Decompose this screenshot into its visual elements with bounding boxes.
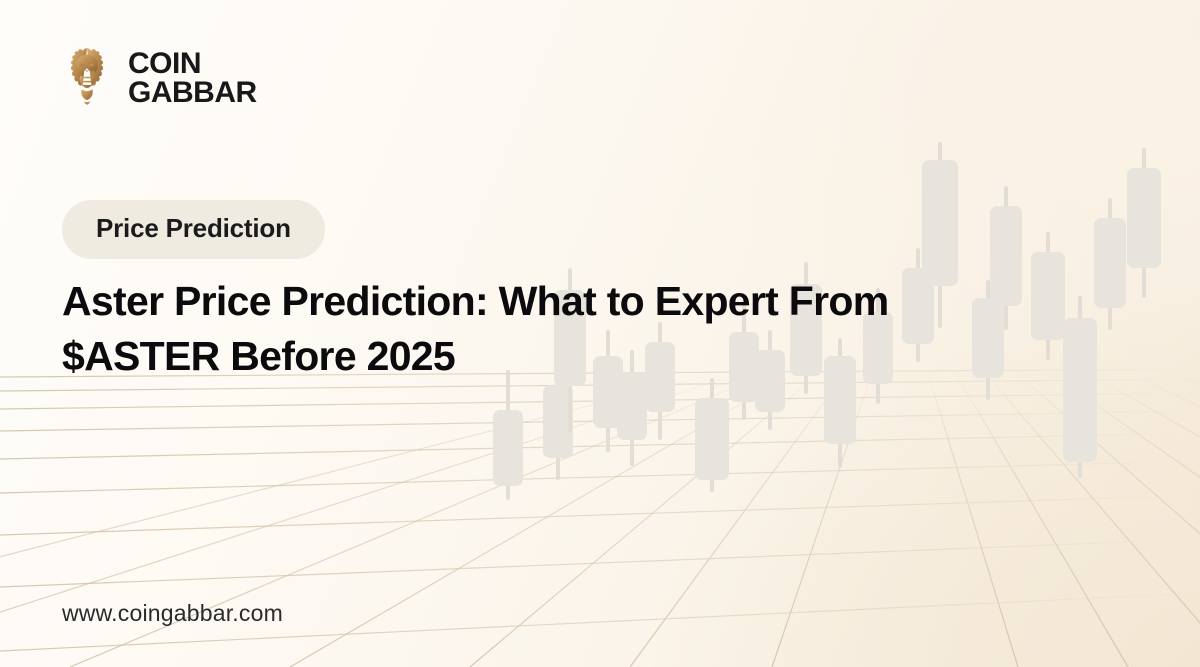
candlestick-body <box>922 160 958 286</box>
candlestick-wick <box>1142 148 1146 298</box>
price-prediction-banner: COIN GABBAR Price Prediction Aster Price… <box>0 0 1200 667</box>
logo-text-coin: COIN <box>128 49 257 78</box>
candlestick <box>1127 148 1161 298</box>
candlestick-body <box>1127 168 1161 268</box>
candlestick-body <box>695 398 729 480</box>
candlestick-wick <box>710 378 714 492</box>
candlestick <box>695 378 729 492</box>
coingabbar-logo[interactable]: COIN GABBAR <box>60 45 257 111</box>
website-url[interactable]: www.coingabbar.com <box>62 600 283 627</box>
candlestick-body <box>493 410 523 486</box>
candlestick <box>493 370 523 500</box>
candlestick-body <box>543 385 573 458</box>
page-title-line-1: Aster Price Prediction: What to Expert F… <box>62 274 1122 329</box>
category-badge[interactable]: Price Prediction <box>62 200 325 259</box>
page-title-line-2: $ASTER Before 2025 <box>62 329 1122 384</box>
logo-wordmark: COIN GABBAR <box>128 49 257 107</box>
candlestick-wick <box>506 370 510 500</box>
lion-head-icon <box>60 45 114 111</box>
page-title: Aster Price Prediction: What to Expert F… <box>62 274 1122 383</box>
logo-text-gabbar: GABBAR <box>128 78 257 107</box>
category-badge-label: Price Prediction <box>96 213 291 244</box>
